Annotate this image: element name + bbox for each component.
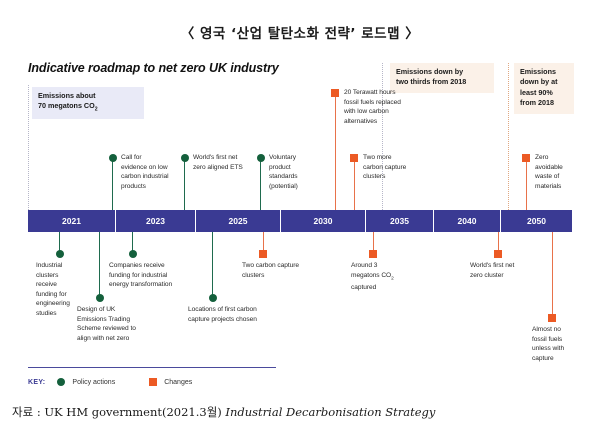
page-title: 〈 영국 ‘산업 탈탄소화 전략’ 로드맵 〉 (0, 22, 600, 42)
node-two-more-clusters[interactable] (350, 154, 358, 162)
node-industrial-clusters-funding[interactable] (56, 250, 64, 258)
stem-worlds-first-net-zero-cluster (498, 232, 499, 252)
note-call-for-evidence: Call for evidence on low carbon industri… (121, 153, 169, 191)
timeline-year-label: 2035 (390, 216, 409, 226)
callout-line-2: two thirds from 2018 (396, 77, 466, 86)
note-two-more-clusters: Two more carbon capture clusters (363, 153, 407, 182)
timeline-year-label: 2023 (146, 216, 165, 226)
timeline-year-2040[interactable]: 2040 (434, 210, 501, 232)
node-twenty-terawatt[interactable] (331, 89, 339, 97)
note-two-carbon-clusters: Two carbon capture clusters (242, 261, 302, 280)
timeline-year-label: 2021 (62, 216, 81, 226)
legend-divider (28, 367, 276, 368)
divider-2021 (28, 85, 29, 210)
source-prefix: 자료 : UK HM government(2021.3월) (12, 405, 225, 419)
callout-line-3: least 90% (520, 88, 553, 97)
timeline-year-label: 2030 (314, 216, 333, 226)
timeline-year-label: 2040 (458, 216, 477, 226)
timeline-bar: 2021 2023 2025 2030 2035 2040 2050 (28, 210, 572, 232)
note-around-3-megatons: Around 3 megatons CO2 captured (351, 261, 395, 292)
timeline-year-2025[interactable]: 2025 (196, 210, 281, 232)
note-worlds-first-ets: World's first net zero aligned ETS (193, 153, 249, 172)
divider-2050 (508, 63, 509, 210)
chart-title: Indicative roadmap to net zero UK indust… (28, 61, 279, 75)
stem-two-carbon-clusters (263, 232, 264, 252)
node-worlds-first-ets[interactable] (181, 154, 189, 162)
node-zero-avoidable-waste[interactable] (522, 154, 530, 162)
note-zero-avoidable-waste: Zero avoidable waste of materials (535, 153, 575, 191)
stem-voluntary-standards (260, 158, 261, 210)
note-text-post: captured (351, 284, 376, 291)
node-companies-funding[interactable] (129, 250, 137, 258)
legend-key-label: KEY: (28, 379, 45, 386)
node-almost-no-fossil-fuels[interactable] (548, 314, 556, 322)
note-text-pre: Around 3 megatons CO (351, 262, 391, 279)
timeline-year-2035[interactable]: 2035 (366, 210, 434, 232)
timeline-year-2050[interactable]: 2050 (501, 210, 572, 232)
stem-first-ccs-locations (212, 232, 213, 296)
callout-subscript: 2 (95, 107, 98, 113)
stem-two-more-clusters (354, 158, 355, 210)
stem-call-for-evidence (112, 158, 113, 210)
legend-item-policy-actions[interactable]: Policy actions (57, 378, 115, 386)
stem-uk-ets-design (99, 232, 100, 296)
stem-twenty-terawatt (335, 93, 336, 210)
node-voluntary-standards[interactable] (257, 154, 265, 162)
note-subscript: 2 (391, 276, 394, 281)
legend: KEY: Policy actions Changes (28, 373, 298, 391)
callout-line-2: 70 megatons CO (38, 101, 95, 110)
note-industrial-clusters-funding: Industrial clusters receive funding for … (36, 261, 76, 318)
divider-2035 (382, 63, 383, 210)
node-two-carbon-clusters[interactable] (259, 250, 267, 258)
note-almost-no-fossil-fuels: Almost no fossil fuels unless with captu… (532, 325, 572, 363)
circle-icon (57, 378, 65, 386)
square-icon (149, 378, 157, 386)
node-uk-ets-design[interactable] (96, 294, 104, 302)
node-first-ccs-locations[interactable] (209, 294, 217, 302)
callout-emissions-2050: Emissions down by at least 90% from 2018 (514, 63, 574, 114)
timeline-year-2023[interactable]: 2023 (116, 210, 196, 232)
stem-worlds-first-ets (184, 158, 185, 210)
node-around-3-megatons[interactable] (369, 250, 377, 258)
stem-industrial-clusters-funding (59, 232, 60, 252)
timeline-year-label: 2050 (527, 216, 546, 226)
stem-companies-funding (132, 232, 133, 252)
callout-line-1: Emissions (520, 67, 556, 76)
node-worlds-first-net-zero-cluster[interactable] (494, 250, 502, 258)
callout-line-2: down by at (520, 77, 558, 86)
node-call-for-evidence[interactable] (109, 154, 117, 162)
roadmap-chart: Indicative roadmap to net zero UK indust… (20, 55, 580, 395)
note-uk-ets-design: Design of UK Emissions Trading Scheme re… (77, 305, 143, 343)
stem-almost-no-fossil-fuels (552, 232, 553, 316)
legend-item-changes[interactable]: Changes (149, 378, 192, 386)
timeline-year-2030[interactable]: 2030 (281, 210, 366, 232)
note-voluntary-standards: Voluntary product standards (potential) (269, 153, 317, 191)
stem-zero-avoidable-waste (526, 158, 527, 210)
timeline-year-label: 2025 (229, 216, 248, 226)
source-citation: 자료 : UK HM government(2021.3월) Industria… (12, 404, 435, 420)
callout-emissions-2021: Emissions about 70 megatons CO2 (32, 87, 144, 119)
note-companies-funding: Companies receive funding for industrial… (109, 261, 181, 290)
note-worlds-first-net-zero-cluster: World's first net zero cluster (470, 261, 522, 280)
timeline-year-2021[interactable]: 2021 (28, 210, 116, 232)
note-first-ccs-locations: Locations of first carbon capture projec… (188, 305, 278, 324)
legend-item-label: Policy actions (72, 379, 115, 386)
stem-around-3-megatons (373, 232, 374, 252)
callout-line-4: from 2018 (520, 98, 554, 107)
source-title: Industrial Decarbonisation Strategy (225, 405, 435, 419)
note-twenty-terawatt: 20 Terawatt hours fossil fuels replaced … (344, 88, 410, 126)
callout-line-1: Emissions about (38, 91, 96, 100)
legend-item-label: Changes (164, 379, 192, 386)
callout-line-1: Emissions down by (396, 67, 463, 76)
